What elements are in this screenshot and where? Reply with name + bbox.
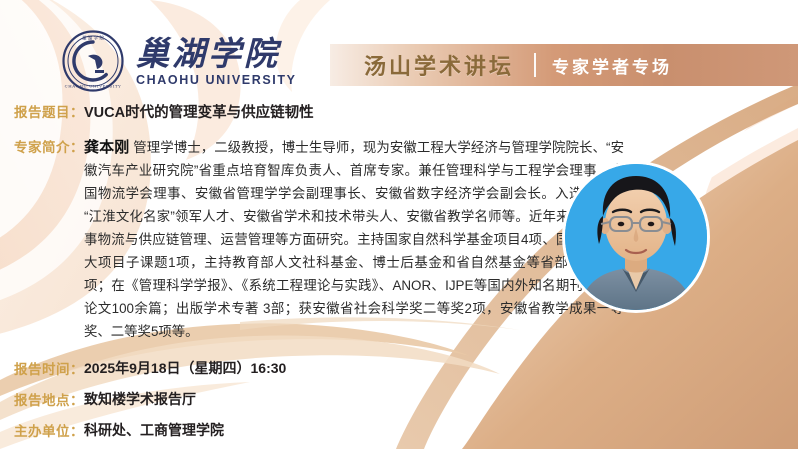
lecture-time-value: 2025年9月18日（星期四）16:30	[84, 358, 286, 378]
university-logo-block: 巢 湖 学 院 CHAOHU UNIVERSITY 巢湖学院 CHAOHU UN…	[62, 30, 297, 92]
speaker-name: 龚本刚	[84, 139, 129, 156]
speaker-bio-body: 管理学博士，二级教授，博士生导师，现为安徽工程大学经济与管理学院院长、“安徽汽车…	[84, 140, 624, 339]
svg-text:CHAOHU UNIVERSITY: CHAOHU UNIVERSITY	[65, 84, 122, 89]
university-name-en: CHAOHU UNIVERSITY	[136, 73, 297, 87]
speaker-bio-text: 龚本刚 管理学博士，二级教授，博士生导师，现为安徽工程大学经济与管理学院院长、“…	[84, 136, 624, 343]
lecture-host-value: 科研处、工商管理学院	[84, 420, 224, 440]
lecture-title-label: 报告题目：	[14, 101, 84, 121]
lecture-series-banner: 汤山学术讲坛 专家学者专场	[330, 44, 798, 86]
university-name-block: 巢湖学院 CHAOHU UNIVERSITY	[136, 36, 297, 87]
poster-canvas: 巢 湖 学 院 CHAOHU UNIVERSITY 巢湖学院 CHAOHU UN…	[0, 0, 798, 449]
poster-header: 巢 湖 学 院 CHAOHU UNIVERSITY 巢湖学院 CHAOHU UN…	[0, 0, 798, 96]
lecture-host-row: 主办单位： 科研处、工商管理学院	[14, 420, 224, 440]
banner-divider	[534, 53, 536, 77]
university-name-cn: 巢湖学院	[136, 36, 280, 72]
banner-title: 汤山学术讲坛	[364, 49, 514, 81]
lecture-time-row: 报告时间： 2025年9月18日（星期四）16:30	[14, 358, 286, 378]
speaker-bio-label: 专家简介：	[14, 136, 84, 156]
speaker-portrait-photo	[565, 164, 707, 310]
lecture-place-label: 报告地点：	[14, 389, 84, 409]
chaohu-university-seal-icon: 巢 湖 学 院 CHAOHU UNIVERSITY	[62, 30, 124, 92]
svg-text:巢 湖 学 院: 巢 湖 学 院	[82, 34, 104, 41]
banner-subtitle: 专家学者专场	[552, 53, 672, 78]
lecture-place-value: 致知楼学术报告厅	[84, 389, 196, 409]
lecture-host-label: 主办单位：	[14, 420, 84, 440]
lecture-title-row: 报告题目： VUCA时代的管理变革与供应链韧性	[14, 101, 314, 122]
lecture-time-label: 报告时间：	[14, 358, 84, 378]
lecture-place-row: 报告地点： 致知楼学术报告厅	[14, 389, 196, 409]
lecture-title-value: VUCA时代的管理变革与供应链韧性	[84, 101, 314, 122]
